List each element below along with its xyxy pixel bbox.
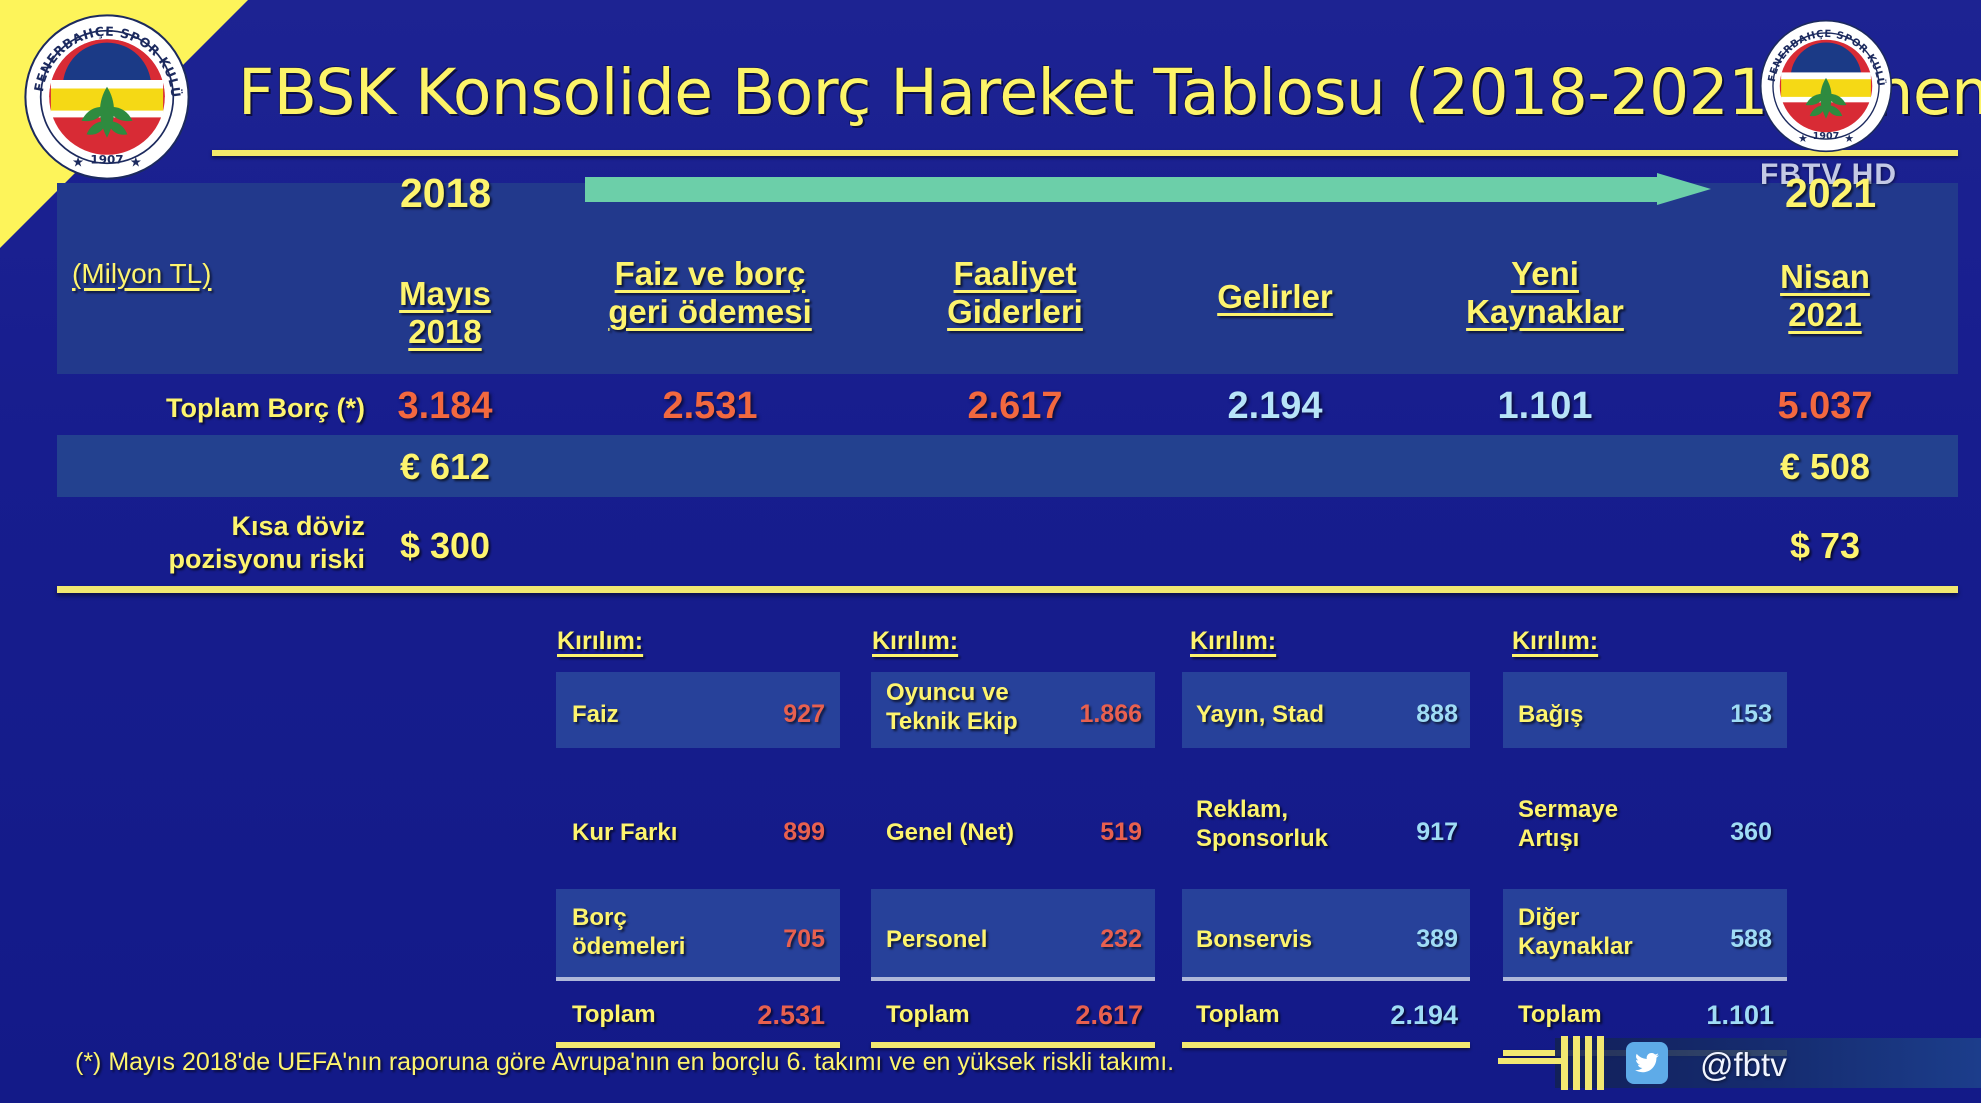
- breakdown-separator: [1503, 977, 1787, 981]
- cell-eur-nisan2021: € 508: [1730, 446, 1920, 488]
- twitter-icon[interactable]: [1626, 1042, 1668, 1084]
- cell-toplam-borc-kaynaklar: 1.101: [1425, 385, 1665, 428]
- slide-title-container: FBSK Konsolide Borç Hareket Tablosu (201…: [238, 56, 1958, 142]
- svg-text:1907: 1907: [90, 152, 123, 166]
- row-label-toplam-borc: Toplam Borç (*): [80, 392, 365, 425]
- column-header-mayis-2018: Mayıs 2018: [370, 275, 520, 352]
- column-header-faaliyet-giderleri: Faaliyet Giderleri: [900, 255, 1130, 332]
- cell-toplam-borc-mayis2018: 3.184: [370, 385, 520, 428]
- timeline-end-year: 2021: [1785, 170, 1876, 217]
- cell-toplam-borc-gelirler: 2.194: [1155, 385, 1395, 428]
- fenerbahce-crest-icon-left: 1907 ★ ★ FENERBAHÇE SPOR KULÜBÜ: [22, 12, 192, 182]
- cell-toplam-borc-faaliyet: 2.617: [900, 385, 1130, 428]
- cell-usd-nisan2021: $ 73: [1730, 525, 1920, 567]
- breakdown-bottom-rule: [1182, 1042, 1470, 1048]
- currency-row-band: [57, 435, 1958, 497]
- footnote-text: (*) Mayıs 2018'de UEFA'nın raporuna göre…: [75, 1048, 1174, 1077]
- page-title: FBSK Konsolide Borç Hareket Tablosu (201…: [238, 56, 1958, 129]
- column-header-faiz-borc: Faiz ve borç geri ödemesi: [585, 255, 835, 332]
- column-header-gelirler: Gelirler: [1155, 278, 1395, 316]
- svg-text:★: ★: [72, 155, 84, 170]
- cell-eur-mayis2018: € 612: [370, 446, 520, 488]
- svg-text:1907: 1907: [1813, 131, 1839, 142]
- svg-text:★: ★: [130, 155, 142, 170]
- unit-label: (Milyon TL): [72, 258, 212, 290]
- cell-toplam-borc-faiz: 2.531: [585, 385, 835, 428]
- cell-toplam-borc-nisan2021: 5.037: [1730, 385, 1920, 428]
- breakdown-separator: [556, 977, 840, 981]
- timeline-arrow-icon: [585, 173, 1710, 205]
- cell-usd-mayis2018: $ 300: [370, 525, 520, 567]
- timeline-start-year: 2018: [400, 170, 491, 217]
- fenerbahce-crest-icon-right: 1907 ★ ★ FENERBAHÇE SPOR KULÜBÜ: [1758, 18, 1894, 154]
- title-underline-rule: [212, 150, 1958, 156]
- column-header-yeni-kaynaklar: Yeni Kaynaklar: [1425, 255, 1665, 332]
- row-label-kisa-doviz: Kısa döviz pozisyonu riski: [80, 510, 365, 576]
- table-bottom-rule: [57, 586, 1958, 593]
- breakdown-separator: [1182, 977, 1470, 981]
- column-header-nisan-2021: Nisan 2021: [1730, 258, 1920, 335]
- lower-third-bars-icon: [1553, 1036, 1625, 1090]
- svg-text:★: ★: [1844, 133, 1854, 145]
- presentation-slide: FBSK Konsolide Borç Hareket Tablosu (201…: [0, 0, 1981, 1103]
- twitter-handle-label: @fbtv: [1700, 1046, 1787, 1084]
- breakdown-separator: [871, 977, 1155, 981]
- svg-text:★: ★: [1798, 133, 1808, 145]
